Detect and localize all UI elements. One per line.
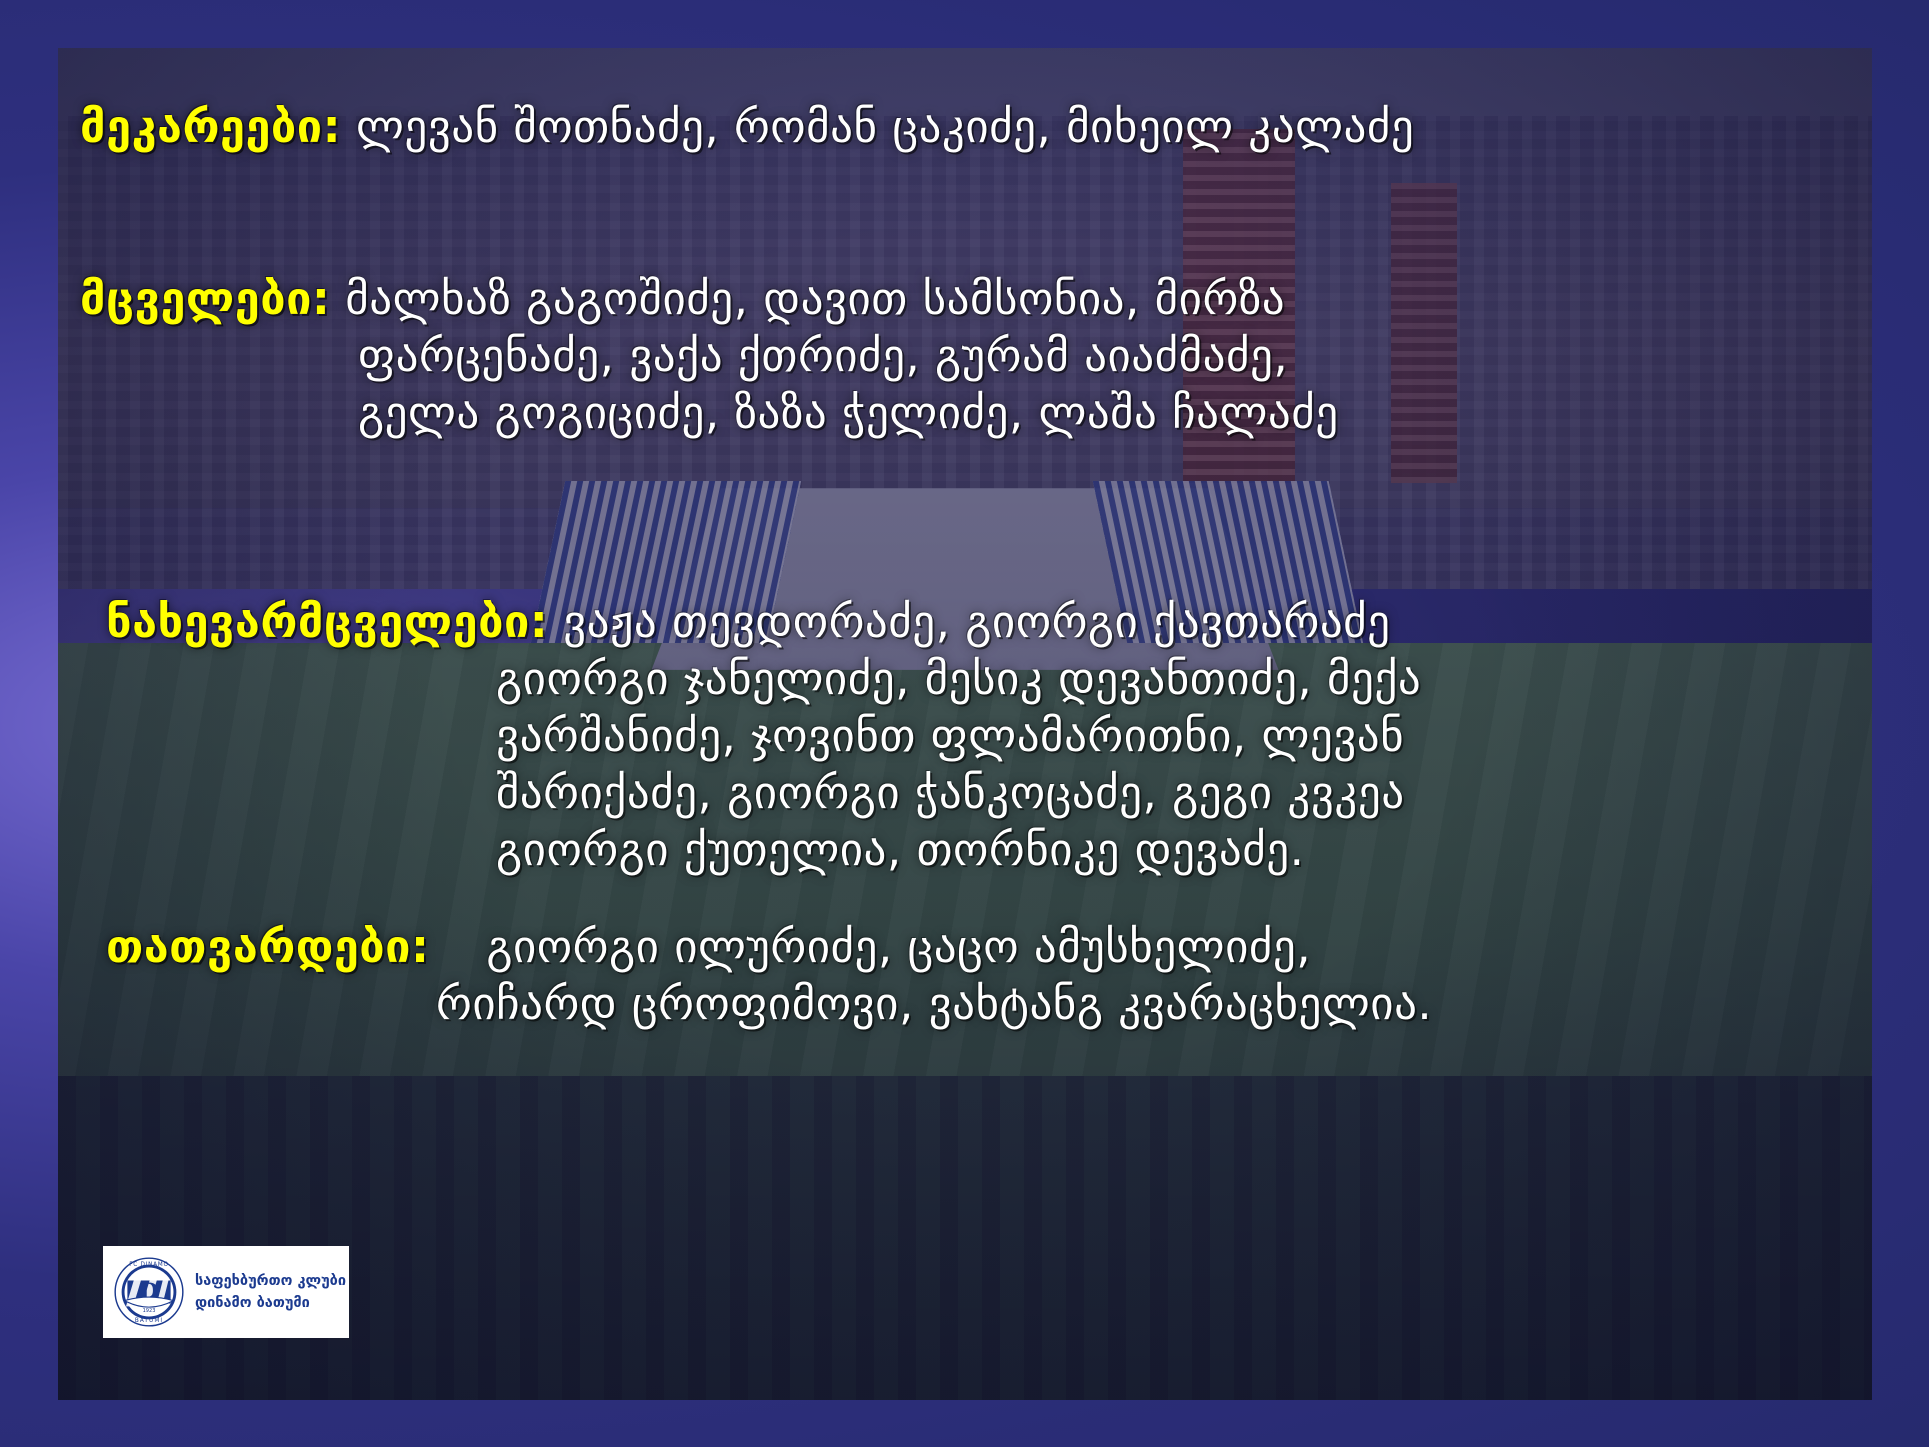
section-defenders: მცველები: მალხაზ გაგოშიძე, დავით სამსონი… <box>58 270 1894 441</box>
section-midfielders: ნახევარმცველები: ვაჟა თევდორაძე, გიორგი … <box>58 593 1920 878</box>
svg-text:BATUMI: BATUMI <box>135 1318 163 1324</box>
section-forwards: თათვარდები: გიორგი ილურიძე, ცაცო ამუსხელ… <box>58 918 1920 1032</box>
defenders-line-2: ფარცენაძე, ვაქა ქთრიძე, გურამ აიაძმაძე, <box>80 327 1894 384</box>
dinamo-batumi-crest-icon: D FC DINAMO 1923 BATUMI <box>113 1256 185 1328</box>
goalkeepers-names: ლევან შოთნაძე, რომან ცაკიძე, მიხეილ კალა… <box>356 100 1414 153</box>
section-goalkeepers: მეკარეები: ლევან შოთნაძე, რომან ცაკიძე, … <box>58 98 1894 155</box>
forwards-line-2: რიჩარდ ცროფიმოვი, ვახტანგ კვარაცხელია. <box>106 975 1920 1032</box>
midfielders-line-1: ნახევარმცველები: ვაჟა თევდორაძე, გიორგი … <box>106 593 1920 650</box>
midfielders-line-2: გიორგი ჯანელიძე, მესიკ დევანთიძე, მექა <box>106 650 1920 707</box>
midfielders-line-4: შარიქაძე, გიორგი ჭანკოცაძე, გეგი კვკეა <box>106 764 1920 821</box>
club-logo-text: საფეხბურთო კლუბი დინამო ბათუმი <box>195 1274 346 1310</box>
defenders-line-1: მცველები: მალხაზ გაგოშიძე, დავით სამსონი… <box>80 270 1894 327</box>
forwards-line-1: თათვარდები: გიორგი ილურიძე, ცაცო ამუსხელ… <box>106 918 1920 975</box>
midfielders-names-1: ვაჟა თევდორაძე, გიორგი ქავთარაძე <box>563 595 1390 648</box>
svg-text:FC DINAMO: FC DINAMO <box>129 1262 168 1268</box>
presentation-slide: მეკარეები: ლევან შოთნაძე, რომან ცაკიძე, … <box>0 0 1929 1447</box>
defenders-label: მცველები: <box>80 272 330 325</box>
midfielders-line-5: გიორგი ქუთელია, თორნიკე დევაძე. <box>106 821 1920 878</box>
club-logo-card: D FC DINAMO 1923 BATUMI საფეხბურთო კლუბი… <box>103 1246 349 1338</box>
midfielders-line-3: ვარშანიძე, ჯოვინთ ფლამარითნი, ლევან <box>106 707 1920 764</box>
midfielders-label: ნახევარმცველები: <box>106 595 548 648</box>
goalkeepers-line: მეკარეები: ლევან შოთნაძე, რომან ცაკიძე, … <box>80 98 1894 155</box>
svg-text:1923: 1923 <box>143 1308 156 1314</box>
defenders-line-3: გელა გოგიციძე, ზაზა ჭელიძე, ლაშა ჩალაძე <box>80 384 1894 441</box>
slide-content: მეკარეები: ლევან შოთნაძე, რომან ცაკიძე, … <box>58 48 1872 1400</box>
forwards-label: თათვარდები: <box>106 920 430 973</box>
forwards-names-1: გიორგი ილურიძე, ცაცო ამუსხელიძე, <box>444 920 1311 973</box>
goalkeepers-label: მეკარეები: <box>80 100 341 153</box>
defenders-names-1: მალხაზ გაგოშიძე, დავით სამსონია, მირზა <box>345 272 1285 325</box>
club-logo-line-1: საფეხბურთო კლუბი <box>195 1274 346 1289</box>
club-logo-line-2: დინამო ბათუმი <box>195 1296 346 1311</box>
